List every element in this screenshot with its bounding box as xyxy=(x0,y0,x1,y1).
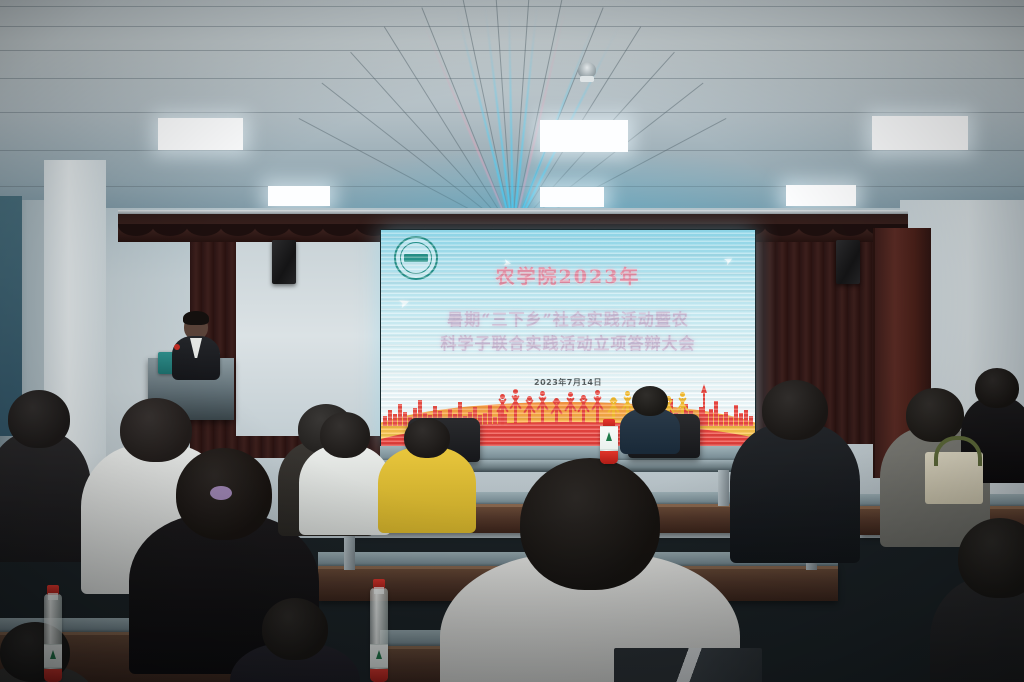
ceiling-panel-light-6 xyxy=(786,185,856,206)
bottle-base xyxy=(44,669,62,682)
presenter-badge xyxy=(174,344,180,350)
ceiling-panel-light-5 xyxy=(540,187,604,207)
bottle-label xyxy=(44,644,62,668)
curtain-rod xyxy=(118,210,908,214)
audience-yellow-shirt-head xyxy=(404,418,450,458)
audience-yellow-shirt-torso xyxy=(378,447,476,533)
presenter-hair xyxy=(183,311,209,325)
hair-scrunchie xyxy=(210,486,232,500)
audience-suit-glasses-head xyxy=(762,380,828,440)
water-bottle-front-mid[interactable] xyxy=(370,588,388,682)
bottle-base xyxy=(600,451,618,464)
audience-bottom-mid-head xyxy=(262,598,328,660)
tshirt-graphic-print xyxy=(614,648,762,682)
valance-scallop xyxy=(186,224,222,236)
ceiling-panel-light-3 xyxy=(872,116,968,150)
conference-hall-photo: ➤ ➤ ➤ 农学院2023年 暑期“三下乡”社会实践活动暨农 科学子联合实践活动… xyxy=(0,0,1024,682)
audience-back-black-head xyxy=(975,368,1019,408)
screen-moire xyxy=(381,230,755,446)
bottle-label xyxy=(600,426,618,450)
ceiling-panel-light-4 xyxy=(268,186,330,206)
audience-white-shirt-left-head xyxy=(120,398,192,462)
valance-scallop xyxy=(220,224,256,236)
bottle-base xyxy=(370,669,388,682)
valance-scallop xyxy=(152,224,188,236)
audience-gray-shirt-head xyxy=(906,388,964,442)
water-bottle-on-desk[interactable] xyxy=(600,428,618,464)
audience-big-foreground-head xyxy=(520,458,660,590)
valance-scallop xyxy=(832,224,868,236)
audience-left-dark-torso xyxy=(0,432,91,562)
valance-scallop xyxy=(322,224,358,236)
wall-speaker-left xyxy=(272,240,296,284)
audience-front-row-center-head xyxy=(632,386,668,416)
audience-suit-glasses-torso xyxy=(730,423,860,563)
ceiling-panel-light-1 xyxy=(158,118,243,150)
valance-scallop xyxy=(798,224,834,236)
valance-scallop xyxy=(764,224,800,236)
tote-bag[interactable] xyxy=(925,452,983,504)
valance-scallop xyxy=(288,224,324,236)
valance-scallop xyxy=(254,224,290,236)
audience-glasses-white-head xyxy=(320,412,370,458)
wall-speaker-right xyxy=(836,240,860,284)
audience-left-dark-head xyxy=(8,390,70,448)
valance-scallop xyxy=(118,224,154,236)
ceiling xyxy=(0,0,1024,232)
smoke-detector-icon xyxy=(578,62,596,78)
led-presentation-screen: ➤ ➤ ➤ 农学院2023年 暑期“三下乡”社会实践活动暨农 科学子联合实践活动… xyxy=(380,229,756,447)
bottle-neck xyxy=(374,587,384,594)
bottle-neck xyxy=(48,593,58,600)
bottle-label xyxy=(370,644,388,668)
water-bottle-front-left[interactable] xyxy=(44,594,62,682)
desk-leg xyxy=(718,470,729,506)
ceiling-panel-light-2 xyxy=(540,120,628,152)
